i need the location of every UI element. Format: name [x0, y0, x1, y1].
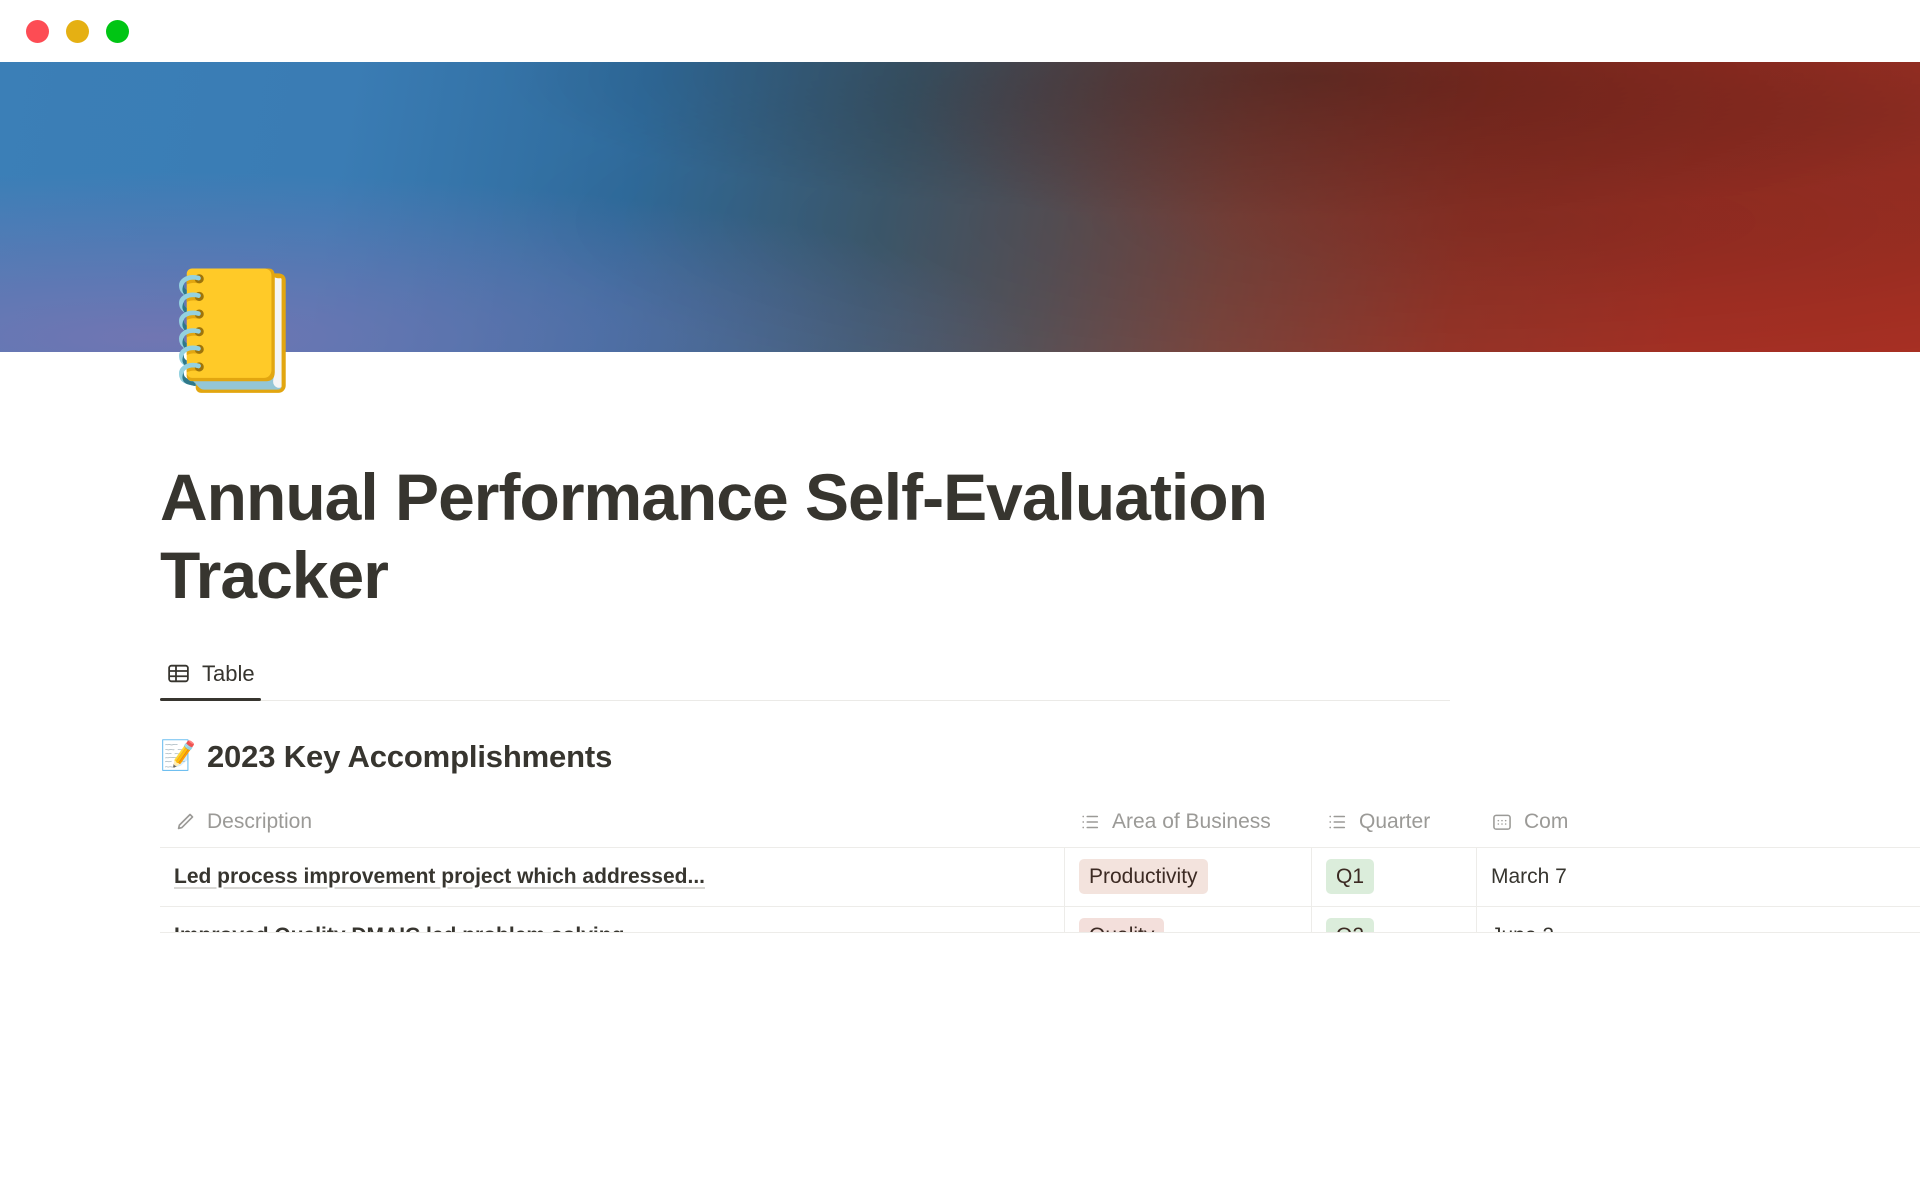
calendar-icon — [1491, 811, 1513, 833]
pencil-icon — [174, 811, 196, 833]
row-title-link[interactable]: Led process improvement project which ad… — [174, 865, 705, 889]
tab-table-label: Table — [202, 661, 255, 687]
status-badge: Productivity — [1079, 859, 1208, 894]
table-header-row: Description — [160, 797, 1920, 848]
section-heading[interactable]: 📝 2023 Key Accomplishments — [160, 739, 1920, 775]
cell-quarter[interactable]: Q2 — [1312, 907, 1477, 933]
minimize-window-button[interactable] — [66, 20, 89, 43]
table-grid-icon — [166, 661, 191, 686]
status-badge: Q1 — [1326, 859, 1374, 894]
maximize-window-button[interactable] — [106, 20, 129, 43]
page-icon-emoji[interactable]: 📒 — [160, 272, 307, 390]
close-window-button[interactable] — [26, 20, 49, 43]
status-badge: Q2 — [1326, 918, 1374, 933]
column-header-quarter[interactable]: Quarter — [1312, 797, 1477, 847]
notion-app-window: 📒 Annual Performance Self-Evaluation Tra… — [0, 0, 1920, 1200]
traffic-light-controls — [26, 20, 129, 43]
database-table: Description — [160, 797, 1920, 933]
column-header-completed-date[interactable]: Com — [1477, 797, 1737, 847]
database-view-tabs: Table — [160, 649, 1450, 701]
cell-area-of-business[interactable]: Productivity — [1065, 848, 1312, 906]
select-list-icon — [1079, 811, 1101, 833]
status-badge: Quality — [1079, 918, 1164, 933]
page-content-column: Annual Performance Self-Evaluation Track… — [160, 459, 1920, 933]
tab-table[interactable]: Table — [160, 661, 261, 700]
row-title-link[interactable]: Improved Quality DMAIC led problem solvi… — [174, 924, 624, 933]
table-row[interactable]: Improved Quality DMAIC led problem solvi… — [160, 907, 1920, 933]
column-header-area-of-business[interactable]: Area of Business — [1065, 797, 1312, 847]
column-header-description-label: Description — [207, 810, 312, 834]
cell-quarter[interactable]: Q1 — [1312, 848, 1477, 906]
column-header-completed-label: Com — [1524, 810, 1568, 834]
memo-emoji: 📝 — [160, 742, 196, 771]
select-list-icon — [1326, 811, 1348, 833]
table-row[interactable]: Led process improvement project which ad… — [160, 848, 1920, 907]
column-header-quarter-label: Quarter — [1359, 810, 1430, 834]
date-value: June 2 — [1491, 924, 1554, 933]
column-header-description[interactable]: Description — [160, 797, 1065, 847]
column-header-area-label: Area of Business — [1112, 810, 1271, 834]
date-value: March 7 — [1491, 865, 1567, 889]
cell-completed-date[interactable]: March 7 — [1477, 848, 1737, 906]
cell-completed-date[interactable]: June 2 — [1477, 907, 1737, 933]
page-body: Annual Performance Self-Evaluation Track… — [0, 352, 1920, 1200]
section-heading-label: 2023 Key Accomplishments — [207, 739, 612, 775]
cell-description[interactable]: Improved Quality DMAIC led problem solvi… — [160, 907, 1065, 933]
cell-area-of-business[interactable]: Quality — [1065, 907, 1312, 933]
window-titlebar — [0, 0, 1920, 62]
cell-description[interactable]: Led process improvement project which ad… — [160, 848, 1065, 906]
page-title[interactable]: Annual Performance Self-Evaluation Track… — [160, 459, 1360, 615]
